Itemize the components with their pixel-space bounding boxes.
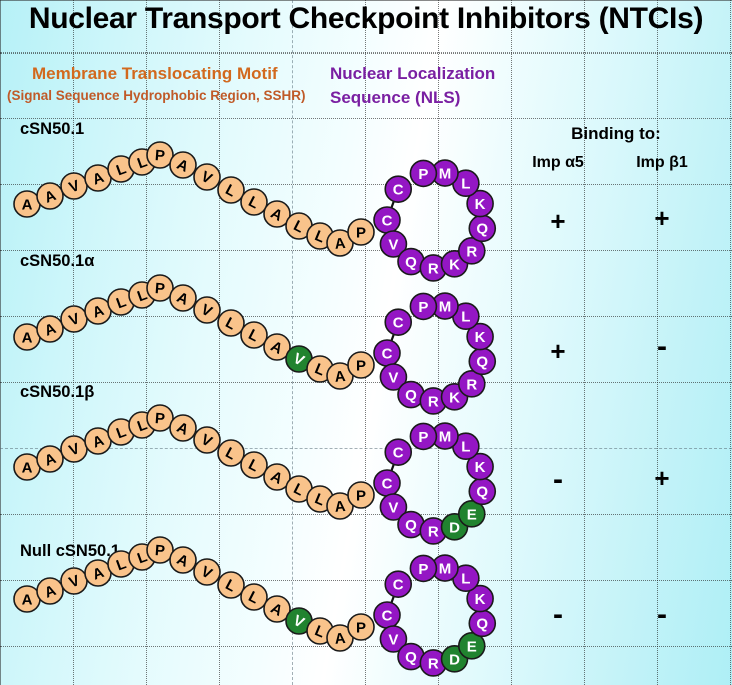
nls-residue-1-9: M — [432, 293, 458, 319]
svg-text:V: V — [388, 236, 398, 253]
nls-residue-0-10: P — [410, 160, 436, 186]
svg-text:Q: Q — [476, 221, 488, 238]
sshr-residue-0-15: P — [348, 219, 374, 245]
svg-text:A: A — [334, 498, 347, 516]
svg-text:P: P — [154, 280, 165, 298]
svg-text:P: P — [418, 166, 428, 183]
svg-text:L: L — [312, 360, 327, 379]
svg-text:V: V — [198, 431, 215, 451]
svg-text:V: V — [290, 350, 307, 370]
sshr-residue-0-11: A — [264, 201, 290, 227]
disulfide-bond-3 — [387, 584, 398, 615]
svg-text:A: A — [22, 329, 33, 346]
svg-text:A: A — [22, 591, 33, 608]
sshr-residue-0-9: L — [218, 177, 244, 203]
sshr-residue-2-11: A — [264, 464, 290, 490]
sshr-residue-2-9: L — [218, 440, 244, 466]
nls-residue-3-0: C — [374, 602, 400, 628]
nls-residue-0-11: C — [385, 176, 411, 202]
nls-residue-2-10: P — [410, 423, 436, 449]
sshr-residue-1-12: V — [286, 346, 312, 372]
nls-header-line1: Nuclear Localization — [330, 64, 495, 84]
svg-text:C: C — [393, 577, 404, 594]
svg-text:K: K — [475, 591, 486, 608]
svg-text:M: M — [439, 428, 452, 445]
svg-text:E: E — [467, 506, 477, 523]
sshr-residue-2-3: A — [85, 428, 111, 454]
nls-residue-0-8: L — [453, 170, 479, 196]
svg-text:V: V — [198, 168, 215, 188]
construct-2: AAVALLPAVLLALLAPCVQRDEQKLMPC — [14, 405, 495, 544]
svg-text:Q: Q — [405, 517, 417, 534]
svg-text:V: V — [388, 631, 398, 648]
svg-text:M: M — [439, 298, 452, 315]
grid-hline-4 — [0, 316, 732, 317]
binding-header: Binding to: — [500, 124, 732, 144]
svg-text:A: A — [268, 205, 286, 225]
svg-text:V: V — [67, 440, 82, 459]
grid-hline-6 — [0, 448, 732, 449]
nls-residue-3-8: L — [453, 565, 479, 591]
nls-residue-3-10: P — [410, 555, 436, 581]
grid-hline-0 — [0, 53, 732, 54]
svg-text:P: P — [356, 619, 366, 636]
svg-text:A: A — [268, 468, 286, 488]
nls-header-line2: Sequence (NLS) — [330, 88, 460, 108]
svg-text:A: A — [42, 320, 58, 340]
binding-cell-0-imp-a5: + — [513, 208, 603, 234]
nls-residue-1-5: R — [459, 371, 485, 397]
construct-label-0: cSN50.1 — [20, 120, 84, 139]
svg-text:L: L — [312, 622, 327, 641]
svg-text:C: C — [393, 445, 404, 462]
sshr-residue-3-14: A — [327, 625, 353, 651]
sshr-residue-0-12: L — [286, 213, 312, 239]
sshr-residue-1-0: A — [14, 324, 40, 350]
nls-residue-3-9: M — [432, 555, 458, 581]
sshr-residue-2-8: V — [194, 427, 220, 453]
svg-text:V: V — [388, 499, 398, 516]
svg-text:A: A — [334, 630, 347, 648]
sshr-residue-2-12: L — [286, 476, 312, 502]
page-title: Nuclear Transport Checkpoint Inhibitors … — [0, 2, 732, 36]
svg-text:K: K — [475, 329, 486, 346]
svg-text:L: L — [223, 576, 239, 595]
mtm-header-line1: Membrane Translocating Motif — [32, 64, 278, 84]
svg-text:L: L — [246, 456, 262, 475]
construct-label-2: cSN50.1β — [20, 383, 94, 402]
svg-text:L: L — [312, 227, 327, 246]
svg-text:A: A — [90, 169, 106, 189]
binding-cell-2-imp-b1: + — [617, 465, 707, 491]
nls-residue-2-4: D — [442, 514, 468, 540]
svg-text:E: E — [467, 638, 477, 655]
nls-residue-3-5: E — [459, 633, 485, 659]
svg-text:L: L — [246, 588, 262, 607]
svg-text:L: L — [246, 193, 262, 212]
sshr-residue-3-5: L — [129, 544, 155, 570]
binding-cell-3-imp-b1: - — [617, 600, 707, 630]
sshr-residue-0-14: A — [327, 230, 353, 256]
svg-text:L: L — [291, 480, 307, 499]
svg-text:R: R — [466, 376, 477, 393]
grid-vline-9 — [730, 0, 731, 685]
sshr-residue-2-6: P — [147, 405, 173, 431]
sshr-residue-2-15: P — [348, 482, 374, 508]
sshr-residue-3-15: P — [348, 614, 374, 640]
nls-residue-0-4: K — [442, 251, 468, 277]
sshr-residue-1-15: P — [348, 352, 374, 378]
svg-text:R: R — [428, 655, 439, 672]
svg-text:V: V — [67, 177, 82, 196]
svg-text:A: A — [90, 302, 106, 322]
svg-text:P: P — [418, 429, 428, 446]
sshr-residue-2-4: L — [108, 419, 134, 445]
svg-text:L: L — [461, 176, 470, 193]
svg-text:P: P — [418, 299, 428, 316]
sshr-residue-1-2: V — [61, 306, 87, 332]
sshr-residue-3-11: A — [264, 596, 290, 622]
sshr-residue-3-0: A — [14, 586, 40, 612]
sshr-residue-3-7: A — [170, 547, 196, 573]
svg-text:R: R — [428, 393, 439, 410]
svg-text:Q: Q — [476, 616, 488, 633]
svg-text:D: D — [449, 651, 460, 668]
svg-text:L: L — [114, 293, 128, 312]
nls-residue-2-5: E — [459, 501, 485, 527]
svg-text:V: V — [67, 310, 82, 329]
mtm-header-line2: (Signal Sequence Hydrophobic Region, SSH… — [7, 88, 306, 103]
sshr-residue-3-3: A — [85, 560, 111, 586]
nls-residue-0-0: C — [374, 207, 400, 233]
sshr-residue-2-5: L — [129, 412, 155, 438]
nls-residue-1-2: Q — [398, 382, 424, 408]
svg-text:A: A — [334, 368, 347, 386]
sshr-residue-1-7: A — [170, 285, 196, 311]
svg-text:L: L — [461, 309, 470, 326]
svg-text:Q: Q — [405, 387, 417, 404]
grid-hline-7 — [0, 514, 732, 515]
grid-hline-3 — [0, 250, 732, 251]
svg-text:A: A — [42, 187, 58, 207]
svg-text:A: A — [90, 564, 106, 584]
svg-text:A: A — [174, 156, 191, 176]
svg-text:L: L — [135, 286, 149, 305]
svg-text:V: V — [198, 301, 215, 321]
svg-text:V: V — [388, 369, 398, 386]
svg-text:L: L — [312, 490, 327, 509]
nls-residue-0-9: M — [432, 160, 458, 186]
nls-residue-0-1: V — [380, 231, 406, 257]
construct-label-1: cSN50.1α — [20, 252, 94, 271]
grid-hline-9 — [0, 646, 732, 647]
sshr-residue-0-13: L — [307, 223, 333, 249]
disulfide-bond-2 — [387, 452, 398, 483]
svg-text:V: V — [198, 563, 215, 583]
nls-residue-2-2: Q — [398, 512, 424, 538]
svg-text:A: A — [174, 551, 191, 571]
svg-text:A: A — [174, 289, 191, 309]
nls-residue-1-3: R — [420, 388, 446, 414]
title-divider — [0, 52, 732, 53]
binding-column-imp-b1: Imp β1 — [617, 154, 707, 172]
sshr-residue-0-6: P — [147, 142, 173, 168]
sshr-residue-0-10: L — [241, 189, 267, 215]
svg-text:L: L — [461, 439, 470, 456]
sshr-residue-3-13: L — [307, 618, 333, 644]
svg-text:R: R — [428, 523, 439, 540]
nls-residue-1-10: P — [410, 293, 436, 319]
nls-residue-3-6: Q — [469, 610, 495, 636]
sshr-residue-3-8: V — [194, 559, 220, 585]
sshr-residue-0-7: A — [170, 152, 196, 178]
svg-text:Q: Q — [476, 484, 488, 501]
nls-residue-1-7: K — [467, 324, 493, 350]
sshr-residue-0-1: A — [37, 183, 63, 209]
sshr-residue-0-8: V — [194, 164, 220, 190]
svg-text:A: A — [22, 459, 33, 476]
svg-text:K: K — [449, 389, 460, 406]
svg-text:P: P — [356, 487, 366, 504]
grid-hline-1 — [0, 118, 732, 119]
sshr-residue-0-2: V — [61, 173, 87, 199]
svg-text:P: P — [356, 357, 366, 374]
sshr-residue-3-1: A — [37, 578, 63, 604]
grid-vline-6 — [511, 0, 512, 685]
svg-text:C: C — [382, 212, 393, 229]
svg-text:A: A — [334, 235, 347, 253]
nls-residue-1-0: C — [374, 340, 400, 366]
nls-residue-2-11: C — [385, 439, 411, 465]
nls-residue-2-9: M — [432, 423, 458, 449]
sshr-residue-3-10: L — [241, 584, 267, 610]
grid-hline-8 — [0, 580, 732, 581]
svg-text:K: K — [475, 459, 486, 476]
binding-cell-2-imp-a5: - — [513, 465, 603, 495]
nls-residue-2-7: K — [467, 454, 493, 480]
svg-text:P: P — [154, 542, 165, 560]
nls-residue-2-8: L — [453, 433, 479, 459]
sshr-residue-0-4: L — [108, 156, 134, 182]
svg-text:C: C — [382, 345, 393, 362]
sshr-residue-2-10: L — [241, 452, 267, 478]
grid-hline-2 — [0, 184, 732, 185]
nls-residue-0-2: Q — [398, 249, 424, 275]
svg-text:D: D — [449, 519, 460, 536]
binding-cell-1-imp-a5: + — [513, 338, 603, 364]
disulfide-bond-0 — [387, 189, 398, 220]
svg-text:L: L — [246, 326, 262, 345]
svg-text:A: A — [268, 600, 286, 620]
svg-text:P: P — [418, 561, 428, 578]
svg-text:P: P — [154, 410, 165, 428]
nls-residue-3-3: R — [420, 650, 446, 676]
nls-residue-2-6: Q — [469, 478, 495, 504]
nls-residue-3-4: D — [442, 646, 468, 672]
sshr-residue-2-2: V — [61, 436, 87, 462]
sshr-residue-1-14: A — [327, 363, 353, 389]
sshr-residue-2-0: A — [14, 454, 40, 480]
nls-residue-3-1: V — [380, 626, 406, 652]
sshr-residue-1-13: L — [307, 356, 333, 382]
nls-residue-0-3: R — [420, 255, 446, 281]
sshr-residue-1-8: V — [194, 297, 220, 323]
nls-residue-0-7: K — [467, 191, 493, 217]
sshr-residue-0-3: A — [85, 165, 111, 191]
sshr-residue-1-1: A — [37, 316, 63, 342]
svg-text:L: L — [291, 217, 307, 236]
svg-text:C: C — [393, 182, 404, 199]
svg-text:Q: Q — [405, 649, 417, 666]
svg-text:C: C — [382, 607, 393, 624]
svg-text:Q: Q — [405, 254, 417, 271]
sshr-residue-1-3: A — [85, 298, 111, 324]
svg-text:L: L — [135, 153, 149, 172]
binding-column-imp-a5: Imp α5 — [513, 154, 603, 172]
svg-text:L: L — [223, 181, 239, 200]
sshr-residue-2-14: A — [327, 493, 353, 519]
svg-text:A: A — [174, 419, 191, 439]
nls-residue-1-4: K — [442, 384, 468, 410]
svg-text:K: K — [449, 256, 460, 273]
grid-hline-5 — [0, 382, 732, 383]
sshr-residue-1-6: P — [147, 275, 173, 301]
nls-residue-3-11: C — [385, 571, 411, 597]
nls-residue-0-6: Q — [469, 215, 495, 241]
svg-text:C: C — [382, 475, 393, 492]
svg-text:A: A — [42, 450, 58, 470]
svg-text:R: R — [466, 243, 477, 260]
nls-residue-3-2: Q — [398, 644, 424, 670]
sshr-residue-3-2: V — [61, 568, 87, 594]
binding-cell-0-imp-b1: + — [617, 205, 707, 231]
svg-text:L: L — [114, 160, 128, 179]
svg-text:P: P — [154, 147, 165, 165]
sshr-residue-1-5: L — [129, 282, 155, 308]
svg-text:A: A — [90, 432, 106, 452]
sshr-residue-3-9: L — [218, 572, 244, 598]
svg-text:Q: Q — [476, 354, 488, 371]
svg-text:M: M — [439, 560, 452, 577]
sshr-residue-1-11: A — [264, 334, 290, 360]
nls-residue-2-1: V — [380, 494, 406, 520]
nls-residue-1-6: Q — [469, 348, 495, 374]
nls-residue-1-11: C — [385, 309, 411, 335]
svg-text:V: V — [290, 612, 307, 632]
nls-residue-3-7: K — [467, 586, 493, 612]
svg-text:L: L — [223, 314, 239, 333]
svg-text:P: P — [356, 224, 366, 241]
nls-residue-0-5: R — [459, 238, 485, 264]
sshr-residue-1-9: L — [218, 310, 244, 336]
svg-text:K: K — [475, 196, 486, 213]
svg-text:M: M — [439, 165, 452, 182]
svg-text:A: A — [22, 196, 33, 213]
binding-cell-1-imp-b1: - — [617, 332, 707, 362]
sshr-residue-3-12: V — [286, 608, 312, 634]
nls-residue-1-8: L — [453, 303, 479, 329]
svg-text:A: A — [268, 338, 286, 358]
svg-text:L: L — [461, 571, 470, 588]
svg-text:R: R — [428, 260, 439, 277]
sshr-residue-2-1: A — [37, 446, 63, 472]
disulfide-bond-1 — [387, 322, 398, 353]
construct-label-3: Null cSN50.1 — [20, 542, 120, 561]
svg-text:A: A — [42, 582, 58, 602]
sshr-residue-3-6: P — [147, 537, 173, 563]
sshr-residue-2-13: L — [307, 486, 333, 512]
svg-text:L: L — [135, 416, 149, 435]
nls-residue-2-3: R — [420, 518, 446, 544]
nls-residue-2-0: C — [374, 470, 400, 496]
sshr-residue-0-0: A — [14, 191, 40, 217]
svg-text:L: L — [114, 423, 128, 442]
svg-text:V: V — [67, 572, 82, 591]
nls-residue-1-1: V — [380, 364, 406, 390]
sshr-residue-1-10: L — [241, 322, 267, 348]
sshr-residue-0-5: L — [129, 149, 155, 175]
svg-text:L: L — [135, 548, 149, 567]
sshr-residue-2-7: A — [170, 415, 196, 441]
svg-text:C: C — [393, 315, 404, 332]
binding-cell-3-imp-a5: - — [513, 600, 603, 630]
sshr-residue-1-4: L — [108, 289, 134, 315]
svg-text:L: L — [223, 444, 239, 463]
